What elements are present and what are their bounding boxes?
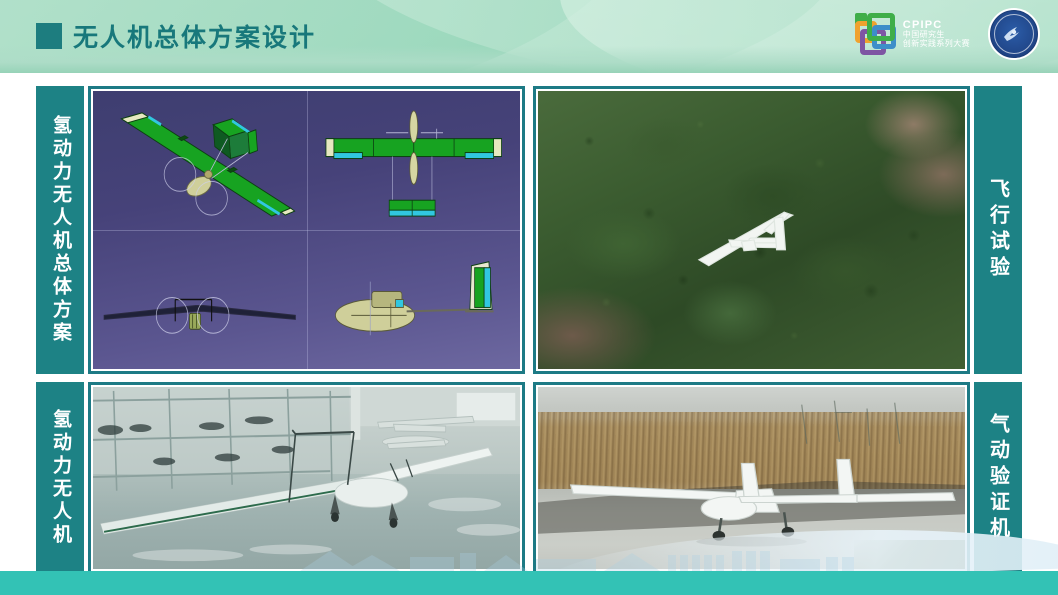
university-seal-icon	[988, 8, 1040, 60]
cad-view-front	[93, 230, 307, 369]
tab-label-flight-test[interactable]: 飞行试验	[974, 86, 1022, 374]
footer-bar	[0, 571, 1058, 595]
photo-uav-in-flight	[538, 91, 965, 369]
uav-silhouette-in-flight	[538, 91, 965, 369]
lab-scene-vector	[93, 387, 520, 569]
footer-skyline-watermark	[0, 545, 1058, 571]
page-title: 无人机总体方案设计	[36, 18, 316, 54]
cad-view-side	[307, 230, 521, 369]
cpipc-logo: CPIPC 中国研究生 创新实践系列大赛	[855, 13, 970, 55]
content-board: 氢动力无人机总体方案	[36, 86, 1022, 574]
page-title-text: 无人机总体方案设计	[73, 18, 316, 54]
seal-bird-emblem	[1001, 23, 1027, 45]
cad-view-top	[307, 91, 521, 230]
tab-label-bottom-right-text: 气动验证机	[988, 413, 1009, 543]
panel-flight-test-photo[interactable]	[533, 86, 970, 374]
panel-cad-three-views[interactable]	[88, 86, 525, 374]
cad-view-isometric	[93, 91, 307, 230]
board-row-top: 氢动力无人机总体方案	[36, 86, 1022, 374]
slide-root: 无人机总体方案设计 CPIPC 中国研究生 创新实践系列大赛	[0, 0, 1058, 595]
tab-label-top-left-text: 氢动力无人机总体方案	[50, 115, 70, 345]
logo-square-green	[867, 13, 895, 41]
cpipc-logo-text: CPIPC 中国研究生 创新实践系列大赛	[903, 20, 970, 48]
cpipc-cn-label-2: 创新实践系列大赛	[903, 40, 970, 48]
cpipc-interlocking-squares-logo	[855, 13, 897, 55]
tab-label-bottom-left-text: 氢动力无人机	[50, 409, 70, 547]
cad-canvas	[93, 91, 520, 369]
square-bullet-icon	[36, 23, 62, 49]
logo-group: CPIPC 中国研究生 创新实践系列大赛	[855, 8, 1040, 60]
tab-label-top-right-text: 飞行试验	[988, 178, 1009, 282]
tab-label-hydrogen-uav-overall-scheme[interactable]: 氢动力无人机总体方案	[36, 86, 84, 374]
photo-uav-in-lab	[93, 387, 520, 569]
